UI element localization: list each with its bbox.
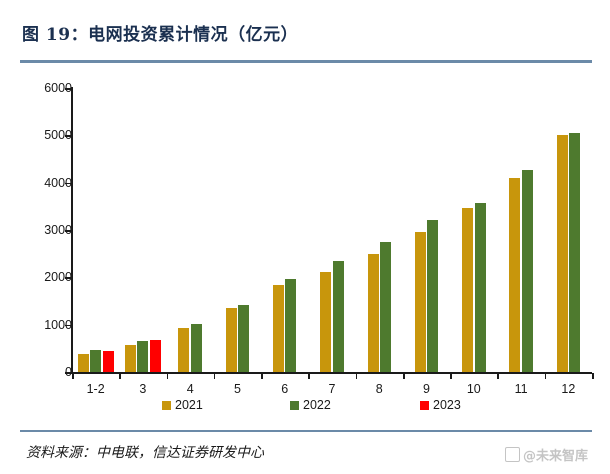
title-block: 图 19：电网投资累计情况（亿元）	[0, 0, 610, 62]
legend-label: 2021	[175, 398, 203, 412]
bar-2021-8	[368, 254, 379, 372]
bar-2022-11	[522, 170, 533, 372]
bar-2023-1-2	[103, 351, 114, 372]
bar-2022-9	[427, 220, 438, 372]
y-axis-tick-label: 6000	[12, 81, 72, 95]
y-axis-tick-label: 5000	[12, 128, 72, 142]
bar-2023-3	[150, 340, 161, 372]
y-axis-tick-mark	[65, 372, 72, 374]
legend-label: 2023	[433, 398, 461, 412]
y-axis-tick-label: 2000	[12, 270, 72, 284]
bar-2021-11	[509, 178, 520, 372]
bar-2022-6	[285, 279, 296, 372]
legend-swatch-icon	[162, 401, 171, 410]
source-note: 资料来源：中电联，信达证券研发中心	[26, 442, 264, 462]
x-axis-tick-mark	[403, 373, 405, 379]
bar-2021-5	[226, 308, 237, 372]
x-axis-tick-label: 3	[139, 382, 146, 396]
x-axis-tick-label: 1-2	[87, 382, 105, 396]
bar-2021-10	[462, 208, 473, 372]
y-axis-tick-mark	[65, 325, 72, 327]
x-axis-line	[71, 372, 592, 374]
bar-2022-3	[137, 341, 148, 372]
y-axis-tick-mark	[65, 135, 72, 137]
bar-2022-5	[238, 305, 249, 372]
x-axis-tick-label: 11	[515, 382, 528, 396]
figure-container: 图 19：电网投资累计情况（亿元） 0100020003000400050006…	[0, 0, 610, 474]
legend-swatch-icon	[290, 401, 299, 410]
footer-divider	[20, 430, 592, 432]
bar-2022-12	[569, 133, 580, 373]
bar-2021-6	[273, 285, 284, 372]
plot-bars	[72, 88, 592, 372]
legend-label: 2022	[303, 398, 331, 412]
x-axis-tick-mark	[592, 373, 594, 379]
x-axis-tick-label: 9	[423, 382, 430, 396]
chart-area: 0100020003000400050006000 1-234567891011…	[0, 62, 610, 412]
x-axis-tick-label: 5	[234, 382, 241, 396]
x-axis-tick-label: 7	[329, 382, 336, 396]
bar-2022-7	[333, 261, 344, 372]
watermark: @未来智库	[505, 445, 588, 464]
x-axis-tick-mark	[545, 373, 547, 379]
legend-swatch-icon	[420, 401, 429, 410]
legend-item-2023[interactable]: 2023	[420, 398, 461, 412]
y-axis-tick-mark	[65, 277, 72, 279]
x-axis-tick-label: 8	[376, 382, 383, 396]
legend-item-2021[interactable]: 2021	[162, 398, 203, 412]
y-axis-tick-label: 0	[12, 365, 72, 379]
bar-2022-4	[191, 324, 202, 372]
watermark-logo-icon	[505, 447, 520, 462]
legend-item-2022[interactable]: 2022	[290, 398, 331, 412]
bar-2021-9	[415, 232, 426, 372]
watermark-label: @未来智库	[523, 445, 588, 464]
x-axis-tick-mark	[497, 373, 499, 379]
x-axis-tick-mark	[356, 373, 358, 379]
bar-2021-3	[125, 345, 136, 372]
y-axis-tick-label: 3000	[12, 223, 72, 237]
y-axis-tick-mark	[65, 183, 72, 185]
x-axis-tick-mark	[119, 373, 121, 379]
x-axis-tick-label: 10	[467, 382, 481, 396]
x-axis-tick-mark	[167, 373, 169, 379]
bar-2021-4	[178, 328, 189, 372]
legend: 202120222023	[0, 398, 610, 420]
y-axis-tick-mark	[65, 88, 72, 90]
bar-2021-1-2	[78, 354, 89, 372]
y-axis-tick-label: 4000	[12, 176, 72, 190]
y-axis-tick-mark	[65, 230, 72, 232]
page-title: 图 19：电网投资累计情况（亿元）	[22, 20, 298, 45]
x-axis-tick-mark	[261, 373, 263, 379]
x-axis-tick-label: 12	[561, 382, 575, 396]
x-axis-tick-mark	[214, 373, 216, 379]
x-axis-tick-mark	[72, 373, 74, 379]
x-axis-tick-mark	[308, 373, 310, 379]
x-axis-tick-label: 4	[187, 382, 194, 396]
bar-2022-1-2	[90, 350, 101, 372]
bar-2021-7	[320, 272, 331, 372]
x-axis-tick-label: 6	[281, 382, 288, 396]
bar-2022-8	[380, 242, 391, 372]
bar-2021-12	[557, 135, 568, 372]
y-axis-tick-label: 1000	[12, 318, 72, 332]
bar-2022-10	[475, 203, 486, 372]
x-axis-tick-mark	[450, 373, 452, 379]
